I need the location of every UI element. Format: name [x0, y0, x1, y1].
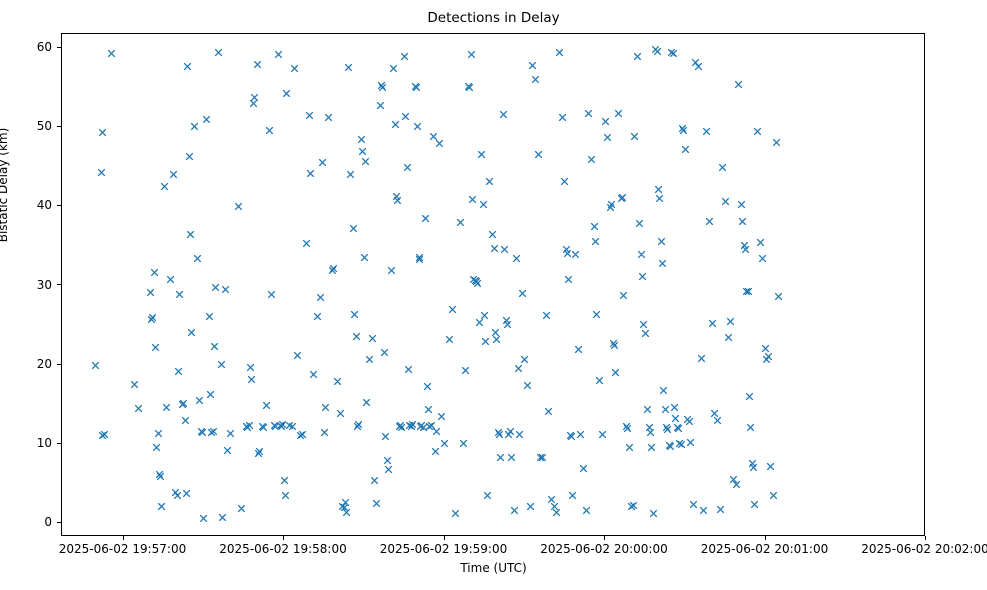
scatter-point	[422, 215, 429, 222]
scatter-point	[215, 49, 222, 56]
scatter-point	[746, 393, 753, 400]
scatter-point	[604, 134, 611, 141]
x-tick-label: 2025-06-02 20:02:00	[835, 543, 987, 555]
scatter-point	[468, 51, 475, 58]
scatter-point	[366, 356, 373, 363]
scatter-point	[184, 63, 191, 70]
scatter-point	[351, 311, 358, 318]
scatter-point	[529, 62, 536, 69]
y-tick-mark	[57, 205, 61, 206]
scatter-point	[482, 338, 489, 345]
scatter-point	[759, 255, 766, 262]
scatter-point	[222, 286, 229, 293]
scatter-point	[500, 111, 507, 118]
scatter-point	[355, 421, 362, 428]
scatter-point	[254, 61, 261, 68]
scatter-point	[638, 251, 645, 258]
scatter-point	[711, 410, 718, 417]
scatter-point	[662, 406, 669, 413]
y-tick-mark	[57, 443, 61, 444]
y-tick-mark	[57, 126, 61, 127]
scatter-point	[186, 153, 193, 160]
scatter-point	[535, 151, 542, 158]
scatter-point	[238, 505, 245, 512]
scatter-point	[377, 102, 384, 109]
scatter-point	[690, 501, 697, 508]
scatter-point	[310, 371, 317, 378]
scatter-point	[384, 457, 391, 464]
scatter-point	[161, 183, 168, 190]
scatter-point	[765, 353, 772, 360]
scatter-point	[491, 245, 498, 252]
scatter-point	[624, 425, 631, 432]
scatter-point	[658, 238, 665, 245]
scatter-point	[686, 418, 693, 425]
scatter-point	[508, 454, 515, 461]
scatter-point	[358, 136, 365, 143]
scatter-point	[466, 84, 473, 91]
scatter-point	[174, 492, 181, 499]
scatter-point	[642, 330, 649, 337]
scatter-point	[99, 129, 106, 136]
scatter-point	[469, 196, 476, 203]
scatter-point	[577, 431, 584, 438]
scatter-point	[532, 76, 539, 83]
scatter-point	[203, 116, 210, 123]
scatter-point	[321, 429, 328, 436]
scatter-point	[559, 114, 566, 121]
scatter-point	[263, 402, 270, 409]
scatter-point	[342, 499, 349, 506]
scatter-point	[251, 94, 258, 101]
y-tick-mark	[57, 364, 61, 365]
scatter-point	[497, 454, 504, 461]
scatter-point	[452, 510, 459, 517]
scatter-point	[733, 481, 740, 488]
scatter-point	[647, 429, 654, 436]
scatter-point	[381, 349, 388, 356]
scatter-point	[515, 365, 522, 372]
scatter-point	[596, 377, 603, 384]
scatter-point	[394, 197, 401, 204]
scatter-point	[369, 335, 376, 342]
scatter-point	[671, 404, 678, 411]
scatter-point	[568, 433, 575, 440]
scatter-point	[593, 311, 600, 318]
scatter-point	[291, 65, 298, 72]
scatter-point	[414, 123, 421, 130]
scatter-point	[599, 431, 606, 438]
scatter-point	[163, 404, 170, 411]
scatter-point	[206, 313, 213, 320]
x-tick-label: 2025-06-02 20:00:00	[514, 543, 694, 555]
scatter-point	[717, 506, 724, 513]
scatter-point	[388, 267, 395, 274]
scatter-point	[227, 430, 234, 437]
scatter-point	[719, 164, 726, 171]
scatter-point	[325, 114, 332, 121]
scatter-point	[322, 404, 329, 411]
scatter-point	[446, 336, 453, 343]
scatter-point	[167, 276, 174, 283]
scatter-point	[751, 501, 758, 508]
scatter-point	[583, 507, 590, 514]
scatter-point	[281, 477, 288, 484]
x-tick-mark	[123, 536, 124, 540]
scatter-point	[92, 362, 99, 369]
scatter-point	[592, 238, 599, 245]
scatter-point	[630, 502, 637, 509]
y-tick-label: 30	[5, 279, 52, 291]
y-tick-label: 40	[5, 199, 52, 211]
scatter-point	[664, 426, 671, 433]
scatter-point	[235, 203, 242, 210]
matplotlib-figure: Detections in Delay Bistatic Delay (km) …	[0, 0, 987, 590]
scatter-point	[474, 280, 481, 287]
scatter-point	[575, 346, 582, 353]
scatter-point	[149, 314, 156, 321]
scatter-point	[640, 321, 647, 328]
scatter-point	[307, 170, 314, 177]
scatter-point	[218, 361, 225, 368]
scatter-point	[773, 139, 780, 146]
scatter-point	[433, 428, 440, 435]
scatter-point	[317, 294, 324, 301]
scatter-point	[548, 496, 555, 503]
x-tick-mark	[925, 536, 926, 540]
scatter-point	[250, 100, 257, 107]
scatter-point	[462, 367, 469, 374]
x-axis-label: Time (UTC)	[0, 561, 987, 575]
scatter-point	[654, 48, 661, 55]
scatter-point	[757, 239, 764, 246]
scatter-point	[481, 312, 488, 319]
scatter-point	[175, 368, 182, 375]
scatter-point	[745, 288, 752, 295]
scatter-point	[619, 194, 626, 201]
scatter-point	[519, 290, 526, 297]
scatter-point	[256, 448, 263, 455]
scatter-point	[727, 318, 734, 325]
scatter-point	[543, 312, 550, 319]
scatter-point	[362, 158, 369, 165]
scatter-point	[480, 201, 487, 208]
scatter-point	[670, 50, 677, 57]
scatter-point	[486, 178, 493, 185]
scatter-point	[539, 454, 546, 461]
x-tick-mark	[604, 536, 605, 540]
scatter-point	[700, 507, 707, 514]
scatter-point	[714, 417, 721, 424]
scatter-point	[260, 424, 267, 431]
scatter-point	[266, 127, 273, 134]
scatter-point	[565, 276, 572, 283]
scatter-point	[591, 223, 598, 230]
scatter-point	[303, 240, 310, 247]
scatter-point	[382, 433, 389, 440]
scatter-point	[188, 329, 195, 336]
scatter-point	[436, 140, 443, 147]
scatter-point	[247, 364, 254, 371]
scatter-point	[644, 406, 651, 413]
scatter-point	[147, 289, 154, 296]
scatter-point	[135, 405, 142, 412]
scatter-point	[659, 260, 666, 267]
x-tick-label: 2025-06-02 19:57:00	[33, 543, 213, 555]
scatter-point	[631, 133, 638, 140]
scatter-point	[210, 428, 217, 435]
scatter-point	[151, 269, 158, 276]
scatter-point	[187, 231, 194, 238]
scatter-point	[650, 510, 657, 517]
scatter-point	[695, 63, 702, 70]
scatter-point	[299, 431, 306, 438]
scatter-point	[314, 313, 321, 320]
scatter-point	[155, 430, 162, 437]
scatter-point	[513, 255, 520, 262]
scatter-point	[289, 423, 296, 430]
scatter-point	[283, 90, 290, 97]
scatter-point	[183, 490, 190, 497]
y-tick-mark	[57, 522, 61, 523]
scatter-point	[767, 463, 774, 470]
scatter-point	[611, 342, 618, 349]
scatter-point	[612, 369, 619, 376]
scatter-point	[153, 444, 160, 451]
scatter-point	[373, 500, 380, 507]
scatter-point	[334, 378, 341, 385]
scatter-point	[457, 219, 464, 226]
scatter-point	[564, 250, 571, 257]
scatter-point	[180, 400, 187, 407]
scatter-point	[754, 128, 761, 135]
scatter-point	[347, 171, 354, 178]
scatter-point	[248, 376, 255, 383]
scatter-point	[330, 265, 337, 272]
scatter-point	[703, 128, 710, 135]
scatter-point	[660, 387, 667, 394]
scatter-point	[224, 447, 231, 454]
scatter-point	[626, 444, 633, 451]
scatter-point	[404, 164, 411, 171]
scatter-point	[492, 329, 499, 336]
scatter-point	[770, 492, 777, 499]
scatter-point	[496, 431, 503, 438]
scatter-point	[507, 428, 514, 435]
x-tick-mark	[444, 536, 445, 540]
scatter-point	[775, 293, 782, 300]
x-tick-label: 2025-06-02 19:59:00	[354, 543, 534, 555]
scatter-point	[200, 515, 207, 522]
scatter-point	[504, 321, 511, 328]
scatter-point	[363, 399, 370, 406]
scatter-point	[219, 514, 226, 521]
scatter-point	[675, 425, 682, 432]
scatter-point	[489, 231, 496, 238]
scatter-point	[682, 146, 689, 153]
scatter-point	[476, 319, 483, 326]
scatter-point	[413, 84, 420, 91]
scatter-point	[405, 366, 412, 373]
scatter-point	[359, 148, 366, 155]
scatter-point	[371, 477, 378, 484]
scatter-point	[425, 406, 432, 413]
scatter-point	[211, 343, 218, 350]
scatter-point	[438, 413, 445, 420]
scatter-point	[484, 492, 491, 499]
scatter-point	[580, 465, 587, 472]
scatter-point	[556, 49, 563, 56]
scatter-point	[343, 509, 350, 516]
scatter-point	[742, 246, 749, 253]
chart-title: Detections in Delay	[0, 9, 987, 27]
scatter-point	[561, 178, 568, 185]
scatter-point	[432, 448, 439, 455]
scatter-point	[602, 118, 609, 125]
scatter-point	[639, 273, 646, 280]
scatter-point	[636, 220, 643, 227]
scatter-point	[750, 464, 757, 471]
scatter-point	[152, 344, 159, 351]
scatter-point	[306, 112, 313, 119]
scatter-point	[585, 110, 592, 117]
scatter-point	[706, 218, 713, 225]
scatter-point	[345, 64, 352, 71]
scatter-point	[131, 381, 138, 388]
plot-axes	[61, 33, 925, 536]
scatter-point	[212, 284, 219, 291]
y-tick-label: 0	[5, 516, 52, 528]
scatter-point	[337, 410, 344, 417]
scatter-series	[62, 34, 924, 535]
scatter-point	[725, 334, 732, 341]
scatter-point	[402, 113, 409, 120]
scatter-point	[390, 65, 397, 72]
scatter-point	[478, 151, 485, 158]
scatter-point	[207, 391, 214, 398]
scatter-point	[430, 133, 437, 140]
scatter-point	[739, 218, 746, 225]
scatter-point	[516, 431, 523, 438]
y-tick-mark	[57, 284, 61, 285]
scatter-point	[108, 50, 115, 57]
y-tick-label: 20	[5, 358, 52, 370]
scatter-point	[101, 431, 108, 438]
scatter-point	[709, 320, 716, 327]
scatter-point	[634, 53, 641, 60]
scatter-point	[191, 123, 198, 130]
scatter-point	[379, 84, 386, 91]
x-tick-label: 2025-06-02 20:01:00	[675, 543, 855, 555]
scatter-point	[350, 225, 357, 232]
scatter-point	[398, 424, 405, 431]
scatter-point	[319, 159, 326, 166]
x-tick-mark	[283, 536, 284, 540]
scatter-point	[158, 503, 165, 510]
scatter-point	[268, 291, 275, 298]
scatter-point	[747, 424, 754, 431]
scatter-point	[678, 441, 685, 448]
y-axis-label: Bistatic Delay (km)	[0, 85, 10, 285]
y-tick-mark	[57, 47, 61, 48]
scatter-point	[545, 408, 552, 415]
scatter-point	[441, 440, 448, 447]
scatter-point	[449, 306, 456, 313]
scatter-point	[527, 503, 534, 510]
scatter-point	[672, 415, 679, 422]
scatter-point	[620, 292, 627, 299]
scatter-point	[698, 355, 705, 362]
scatter-point	[493, 336, 500, 343]
scatter-point	[294, 352, 301, 359]
scatter-point	[615, 110, 622, 117]
scatter-point	[282, 492, 289, 499]
scatter-point	[722, 198, 729, 205]
scatter-point	[735, 81, 742, 88]
scatter-point	[409, 421, 416, 428]
scatter-point	[572, 251, 579, 258]
scatter-point	[588, 156, 595, 163]
scatter-point	[569, 492, 576, 499]
scatter-point	[655, 186, 662, 193]
scatter-point	[401, 53, 408, 60]
scatter-point	[424, 383, 431, 390]
scatter-point	[460, 440, 467, 447]
x-tick-label: 2025-06-02 19:58:00	[193, 543, 373, 555]
scatter-point	[762, 345, 769, 352]
scatter-point	[553, 509, 560, 516]
scatter-point	[194, 255, 201, 262]
scatter-point	[199, 429, 206, 436]
scatter-point	[501, 246, 508, 253]
x-tick-mark	[765, 536, 766, 540]
scatter-point	[392, 121, 399, 128]
scatter-point	[353, 333, 360, 340]
y-tick-label: 10	[5, 437, 52, 449]
scatter-point	[157, 473, 164, 480]
scatter-point	[608, 201, 615, 208]
y-tick-label: 60	[5, 41, 52, 53]
scatter-point	[521, 356, 528, 363]
scatter-point	[511, 507, 518, 514]
scatter-point	[182, 417, 189, 424]
scatter-point	[648, 444, 655, 451]
scatter-point	[416, 256, 423, 263]
scatter-point	[361, 254, 368, 261]
y-tick-label: 50	[5, 120, 52, 132]
scatter-point	[687, 439, 694, 446]
scatter-point	[98, 169, 105, 176]
scatter-point	[667, 443, 674, 450]
scatter-point	[524, 382, 531, 389]
scatter-point	[738, 201, 745, 208]
scatter-point	[176, 291, 183, 298]
scatter-point	[196, 397, 203, 404]
scatter-point	[680, 127, 687, 134]
scatter-point	[170, 171, 177, 178]
scatter-point	[656, 195, 663, 202]
scatter-point	[385, 466, 392, 473]
scatter-point	[246, 422, 253, 429]
scatter-point	[275, 51, 282, 58]
